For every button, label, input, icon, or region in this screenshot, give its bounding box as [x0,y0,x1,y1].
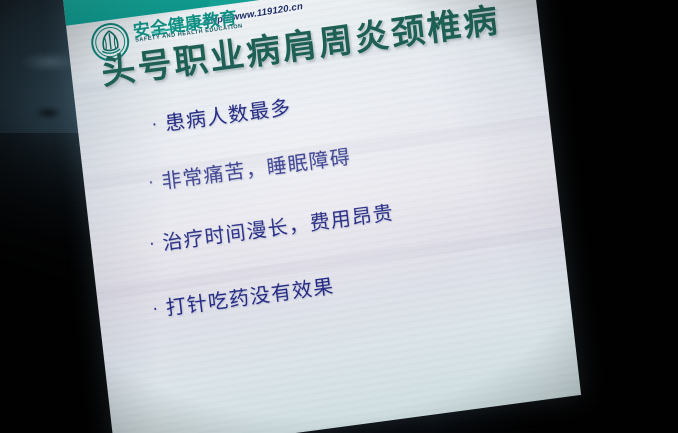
projection-screen-wrapper: http://www.119120.cn 安全健康教育 SAFETY AND [62,0,581,433]
projection-screen: http://www.119120.cn 安全健康教育 SAFETY AND [62,0,581,433]
bullet-marker-icon: · [152,299,160,319]
photo-scene: http://www.119120.cn 安全健康教育 SAFETY AND [0,0,678,433]
ceiling-dark-speck [36,108,60,118]
